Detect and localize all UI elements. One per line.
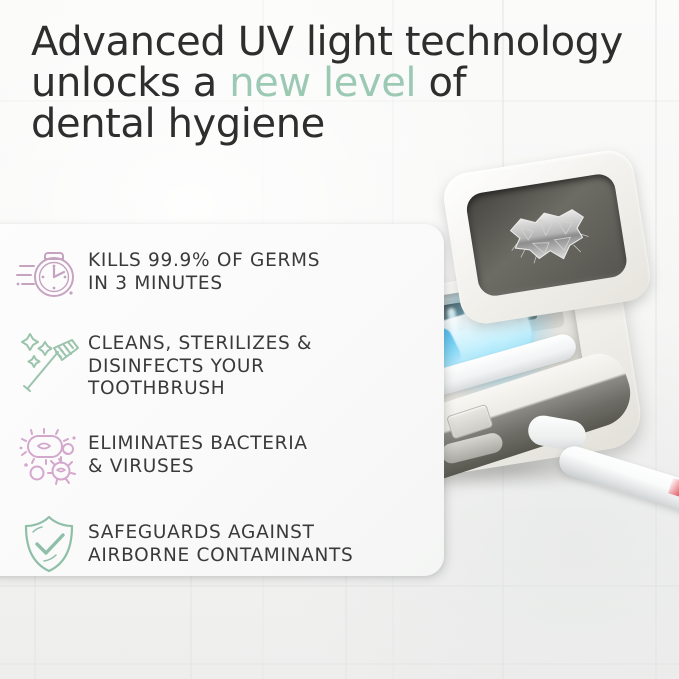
feature-item: CLEANS, STERILIZES & DISINFECTS YOUR TOO…	[10, 328, 430, 401]
product-infographic: Advanced UV light technology unlocks a n…	[0, 0, 679, 679]
headline-line-2-prefix: unlocks a	[31, 60, 229, 106]
feature-list: KILLS 99.9% OF GERMS IN 3 MINUTES	[0, 224, 444, 576]
lid-interior-panel	[464, 172, 628, 298]
stopwatch-icon	[10, 240, 88, 308]
feature-text-line: AIRBORNE CONTAMINANTS	[88, 545, 354, 568]
headline-line-1: Advanced UV light technology	[31, 22, 671, 63]
grout-line-horizontal	[0, 663, 679, 665]
headline-line-2-suffix: of	[416, 60, 466, 106]
headline-line-3: dental hygiene	[31, 104, 671, 145]
feature-item: ELIMINATES BACTERIA & VIRUSES	[10, 424, 430, 492]
feature-text-line: DISINFECTS YOUR	[88, 356, 312, 379]
toothbrush-red-stripe	[668, 478, 679, 507]
feature-text-line: ELIMINATES BACTERIA	[88, 433, 308, 456]
grout-line-horizontal	[0, 585, 679, 587]
feature-item: KILLS 99.9% OF GERMS IN 3 MINUTES	[10, 240, 430, 308]
feature-card: KILLS 99.9% OF GERMS IN 3 MINUTES	[0, 224, 444, 576]
toothbrush-sparkle-icon	[10, 328, 88, 396]
chrome-graffiti-emblem-icon	[504, 203, 594, 271]
feature-text-line: & VIRUSES	[88, 456, 308, 479]
feature-text: KILLS 99.9% OF GERMS IN 3 MINUTES	[88, 240, 320, 295]
feature-text: ELIMINATES BACTERIA & VIRUSES	[88, 424, 308, 478]
feature-text: SAFEGUARDS AGAINST AIRBORNE CONTAMINANTS	[88, 510, 354, 567]
lid-indicator-dot	[606, 260, 610, 264]
feature-text-line: SAFEGUARDS AGAINST	[88, 522, 354, 545]
shield-check-icon	[10, 510, 88, 578]
headline: Advanced UV light technology unlocks a n…	[31, 22, 671, 145]
latch-bar	[440, 431, 505, 465]
sanitizer-lid[interactable]	[440, 147, 653, 327]
bacteria-virus-icon	[10, 424, 88, 492]
feature-text-line: CLEANS, STERILIZES &	[88, 333, 312, 356]
feature-text: CLEANS, STERILIZES & DISINFECTS YOUR TOO…	[88, 328, 312, 401]
feature-item: SAFEGUARDS AGAINST AIRBORNE CONTAMINANTS	[10, 510, 430, 578]
headline-line-2: unlocks a new level of	[31, 63, 671, 104]
headline-accent-text: new level	[229, 60, 416, 106]
feature-text-line: IN 3 MINUTES	[88, 273, 320, 296]
feature-text-line: KILLS 99.9% OF GERMS	[88, 250, 320, 273]
feature-text-line: TOOTHBRUSH	[88, 378, 312, 401]
